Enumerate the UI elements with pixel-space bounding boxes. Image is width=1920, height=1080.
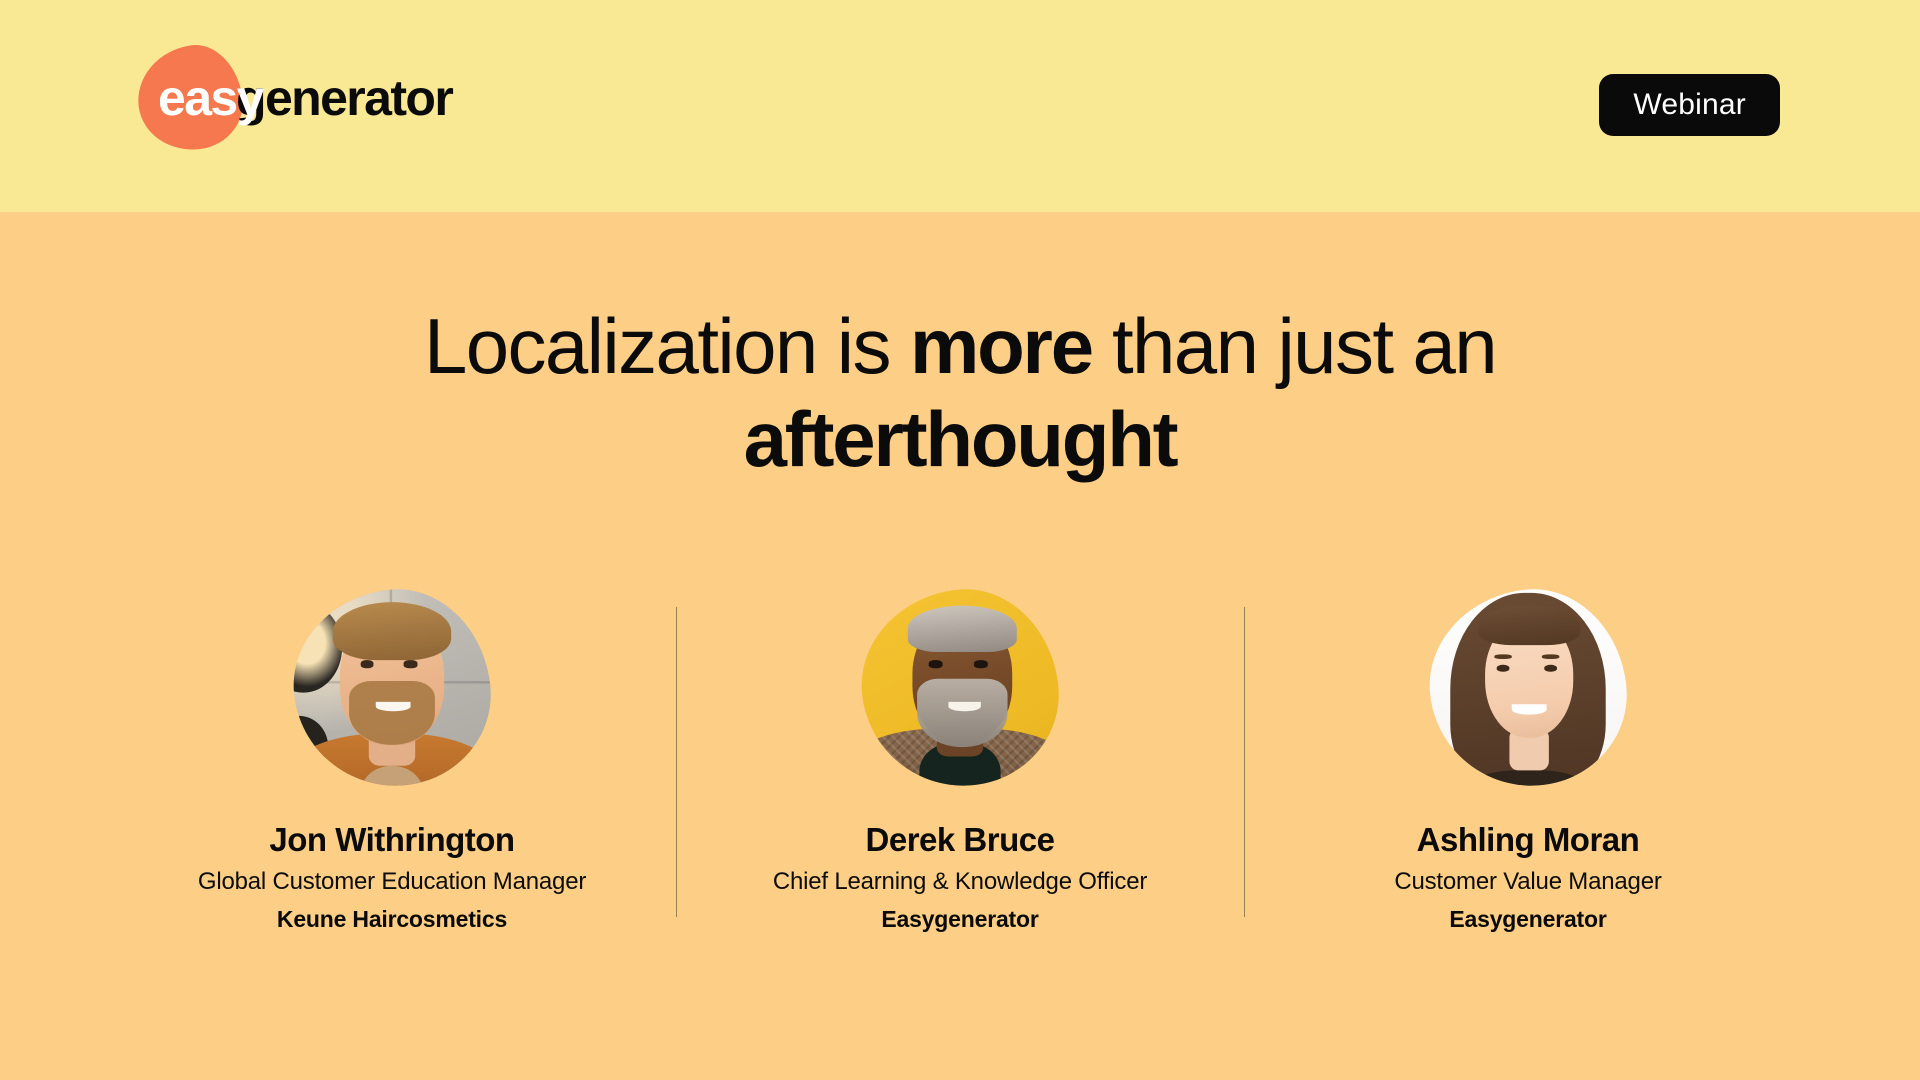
speaker-role: Chief Learning & Knowledge Officer bbox=[773, 867, 1147, 897]
speaker-name: Jon Withrington bbox=[269, 820, 514, 860]
speaker-divider-1 bbox=[676, 607, 677, 917]
speaker-card-derek-bruce: Derek Bruce Chief Learning & Knowledge O… bbox=[676, 590, 1244, 933]
speaker-list: Jon Withrington Global Customer Educatio… bbox=[0, 590, 1920, 933]
easygenerator-blob-icon: easy bbox=[138, 46, 242, 150]
speaker-role: Global Customer Education Manager bbox=[198, 867, 586, 897]
headline-emphasis-more: more bbox=[910, 302, 1092, 390]
headline-line-1: Localization is more than just an bbox=[180, 300, 1740, 393]
webinar-promo-slide: easy generator Webinar Localization is m… bbox=[0, 0, 1920, 1080]
speaker-organization: Keune Haircosmetics bbox=[277, 906, 507, 934]
speaker-role: Customer Value Manager bbox=[1394, 867, 1661, 897]
speaker-card-ashling-moran: Ashling Moran Customer Value Manager Eas… bbox=[1244, 590, 1812, 933]
speaker-name: Derek Bruce bbox=[866, 820, 1055, 860]
speaker-divider-2 bbox=[1244, 607, 1245, 917]
logo-word-generator: generator bbox=[236, 73, 452, 123]
easygenerator-logo[interactable]: easy generator bbox=[138, 38, 452, 158]
speaker-name: Ashling Moran bbox=[1417, 820, 1640, 860]
page-header: easy generator Webinar bbox=[0, 0, 1920, 212]
speaker-organization: Easygenerator bbox=[1449, 906, 1606, 934]
webinar-badge[interactable]: Webinar bbox=[1599, 74, 1780, 136]
logo-word-easy: easy bbox=[158, 73, 263, 123]
headline-emphasis-afterthought: afterthought bbox=[744, 395, 1177, 483]
speaker-organization: Easygenerator bbox=[881, 906, 1038, 934]
avatar-derek-bruce bbox=[852, 580, 1067, 795]
page-title: Localization is more than just an aftert… bbox=[0, 300, 1920, 486]
headline-text-b: than just an bbox=[1092, 302, 1496, 390]
avatar-jon-withrington bbox=[284, 580, 499, 795]
avatar-ashling-moran bbox=[1420, 580, 1635, 795]
headline-text-a: Localization is bbox=[424, 302, 910, 390]
speaker-card-jon-withrington: Jon Withrington Global Customer Educatio… bbox=[108, 590, 676, 933]
headline-line-2: afterthought bbox=[180, 393, 1740, 486]
